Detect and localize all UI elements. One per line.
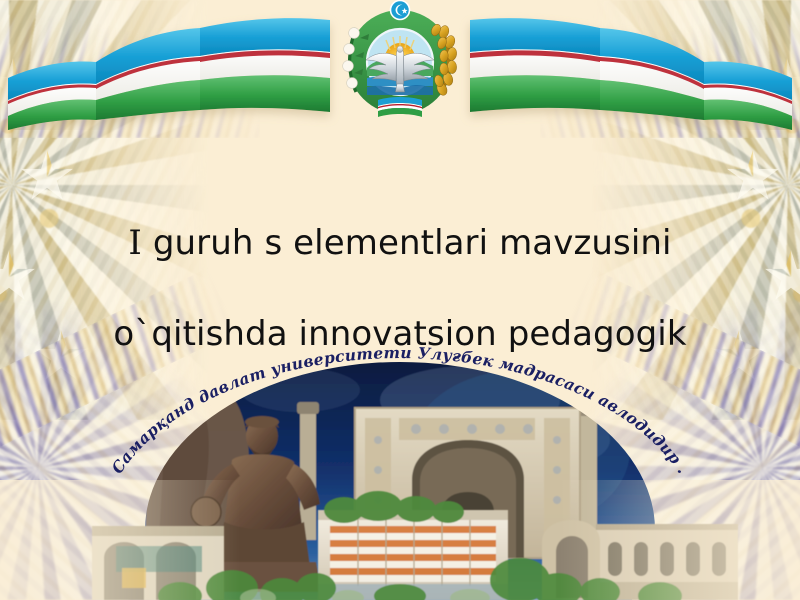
- photo-collage: Самарқанд давлат университети Улуғбек ма…: [0, 330, 800, 600]
- ribbon-left-segments: [8, 18, 330, 130]
- flag-ribbon-graphic: [0, 0, 800, 130]
- title-line-1-text: guruh s elementlari mavzusini: [142, 223, 672, 263]
- presentation-slide: I guruh s elementlari mavzusini o`qitish…: [0, 0, 800, 600]
- title-line-1: I guruh s elementlari mavzusini: [60, 221, 740, 266]
- ornament-star-icon: [0, 250, 36, 304]
- arc-inscription-textpath: Самарқанд давлат университети Улуғбек ма…: [107, 343, 692, 477]
- crescent-star-badge: [391, 1, 410, 20]
- uzbekistan-flag-ribbon: [0, 0, 800, 130]
- arc-inscription-text: Самарқанд давлат университети Улуғбек ма…: [107, 343, 692, 477]
- ornament-star-icon: [764, 250, 800, 304]
- uzbekistan-emblem-icon: [343, 1, 458, 118]
- arc-inscription: Самарқанд давлат университети Улуғбек ма…: [80, 330, 720, 600]
- emblem-base-ribbon: [378, 97, 422, 117]
- ribbon-right-segments: [470, 18, 792, 130]
